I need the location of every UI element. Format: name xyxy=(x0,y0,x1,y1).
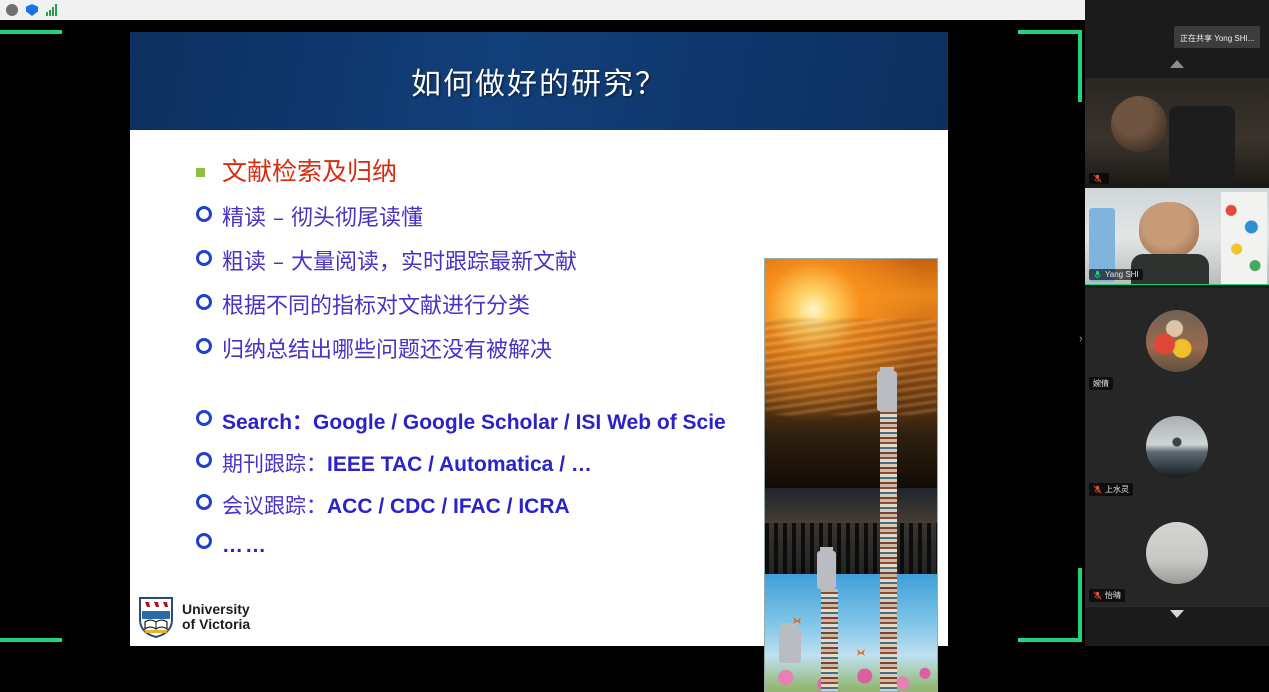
ring-bullet-icon xyxy=(192,294,214,315)
bullet-text: 文献检索及归纳 xyxy=(222,152,397,188)
bullet-text: 归纳总结出哪些问题还没有被解决 xyxy=(222,332,552,364)
scroll-down-arrow[interactable] xyxy=(1170,610,1184,618)
uvic-shield-icon xyxy=(138,596,174,638)
ring-bullet-icon xyxy=(192,250,214,271)
ruins-layer xyxy=(765,488,937,574)
participant-name: 怡晴 xyxy=(1105,590,1121,601)
share-border-top-left xyxy=(0,30,62,34)
slide-title-banner: 如何做好的研究？ xyxy=(130,32,948,130)
mic-unmuted-icon xyxy=(1093,270,1102,279)
share-border-top-right xyxy=(1018,30,1082,34)
list-item: 会议跟踪：ACC / CDC / IFAC / ICRA xyxy=(192,490,792,520)
list-item: 期刊跟踪：IEEE TAC / Automatica / … xyxy=(192,448,792,478)
participant-tile-active[interactable]: Yang SHI xyxy=(1085,188,1269,285)
book-stack-short xyxy=(821,589,838,691)
bullet-label: 期刊跟踪： xyxy=(222,448,327,478)
avatar xyxy=(1146,416,1208,478)
participants-rail[interactable]: 正在共享 Yong SHI... xyxy=(1085,0,1269,646)
bullet-value: IEEE TAC / Automatica / … xyxy=(327,453,592,477)
list-spacer xyxy=(192,376,792,406)
university-logo: University of Victoria xyxy=(138,596,250,638)
figure-ground xyxy=(779,627,801,663)
participant-name-chip: 上水灵 xyxy=(1089,483,1133,496)
bullet-text: 精读 – 彻头彻尾读懂 xyxy=(222,200,423,232)
uvic-line-2: of Victoria xyxy=(182,617,250,632)
list-item: …… xyxy=(192,534,792,558)
list-item: 归纳总结出哪些问题还没有被解决 xyxy=(192,332,792,364)
ring-bullet-icon xyxy=(192,533,214,554)
share-border-bottom-left xyxy=(0,638,62,642)
participant-tile[interactable]: 婉倩 xyxy=(1085,288,1269,395)
sunset-sky-layer xyxy=(765,259,937,488)
participant-name: Yang SHI xyxy=(1105,270,1139,279)
participant-name-chip: 怡晴 xyxy=(1089,589,1125,602)
list-item: Search：Google / Google Scholar / ISI Web… xyxy=(192,406,792,436)
figure-top xyxy=(877,371,897,411)
list-item: 精读 – 彻头彻尾读懂 xyxy=(192,200,792,232)
bullet-text: 根据不同的指标对文献进行分类 xyxy=(222,288,530,320)
participant-name: 婉倩 xyxy=(1093,378,1109,389)
bullet-label: 会议跟踪： xyxy=(222,490,327,520)
ring-bullet-icon xyxy=(192,410,214,431)
presentation-slide: 如何做好的研究？ 文献检索及归纳 精读 – 彻头彻尾读懂 粗读 – 大量阅读，实… xyxy=(130,32,948,646)
book-stack-tall xyxy=(880,409,897,691)
collapse-panel-arrow[interactable]: › xyxy=(1079,333,1083,345)
avatar xyxy=(1146,522,1208,584)
ring-bullet-icon xyxy=(192,494,214,515)
participant-name-chip: Yang SHI xyxy=(1089,269,1143,280)
slide-body: 文献检索及归纳 精读 – 彻头彻尾读懂 粗读 – 大量阅读，实时跟踪最新文献 根… xyxy=(130,130,948,646)
share-border-bottom-right xyxy=(1018,638,1082,642)
circle-icon[interactable] xyxy=(6,4,18,16)
mic-muted-icon xyxy=(1093,485,1102,494)
mic-muted-icon xyxy=(1093,591,1102,600)
sharing-tooltip: 正在共享 Yong SHI... xyxy=(1174,26,1260,48)
participant-tile[interactable]: 上水灵 xyxy=(1085,394,1269,501)
uvic-line-1: University xyxy=(182,602,250,617)
books-ladder-collage-image xyxy=(764,258,938,692)
figure-middle xyxy=(817,551,836,589)
ring-bullet-icon xyxy=(192,452,214,473)
participant-name-chip xyxy=(1089,173,1109,184)
bullet-value: …… xyxy=(222,534,268,558)
participant-name: 上水灵 xyxy=(1105,484,1129,495)
list-item: 粗读 – 大量阅读，实时跟踪最新文献 xyxy=(192,244,792,276)
shield-icon[interactable] xyxy=(26,4,38,16)
scroll-up-arrow[interactable] xyxy=(1170,60,1184,68)
ring-bullet-icon xyxy=(192,338,214,359)
uvic-wordmark: University of Victoria xyxy=(182,602,250,632)
share-border-right-lower xyxy=(1078,568,1082,642)
share-border-right xyxy=(1078,30,1082,102)
list-item: 根据不同的指标对文献进行分类 xyxy=(192,288,792,320)
bullet-value: Google / Google Scholar / ISI Web of Sci… xyxy=(313,411,726,435)
ring-bullet-icon xyxy=(192,206,214,227)
os-taskbar xyxy=(0,0,1269,20)
signal-bars-icon[interactable] xyxy=(46,4,58,16)
bullet-text: 粗读 – 大量阅读，实时跟踪最新文献 xyxy=(222,244,577,276)
participant-tile[interactable] xyxy=(1085,78,1269,189)
bullet-label: Search： xyxy=(222,406,313,436)
sharing-tooltip-text: 正在共享 Yong SHI... xyxy=(1180,34,1254,43)
screen-share-meeting-window: 如何做好的研究？ 文献检索及归纳 精读 – 彻头彻尾读懂 粗读 – 大量阅读，实… xyxy=(0,0,1269,646)
page-title: 如何做好的研究？ xyxy=(411,59,667,103)
square-bullet-icon xyxy=(192,164,214,182)
bullet-value: ACC / CDC / IFAC / ICRA xyxy=(327,495,570,519)
avatar xyxy=(1146,310,1208,372)
bullet-list: 文献检索及归纳 精读 – 彻头彻尾读懂 粗读 – 大量阅读，实时跟踪最新文献 根… xyxy=(192,152,792,570)
mic-muted-icon xyxy=(1093,174,1102,183)
participant-tile[interactable]: 怡晴 xyxy=(1085,500,1269,607)
participant-name-chip: 婉倩 xyxy=(1089,377,1113,390)
list-item: 文献检索及归纳 xyxy=(192,152,792,188)
